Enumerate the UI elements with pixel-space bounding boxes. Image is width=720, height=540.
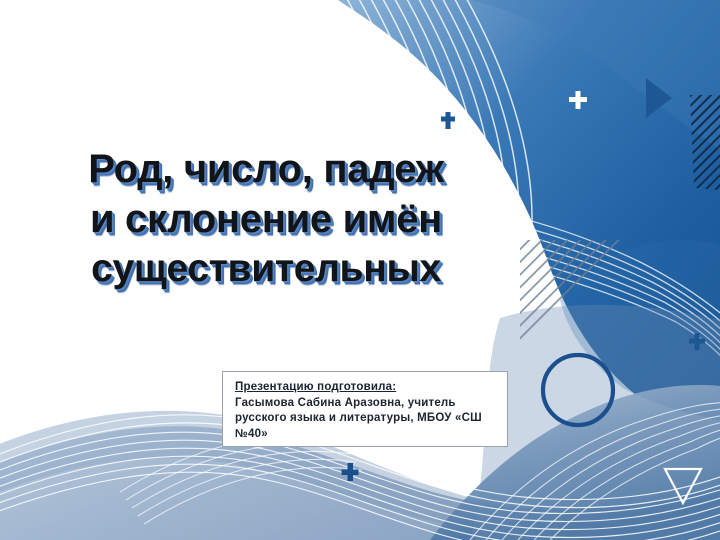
- credit-heading: Презентацию подготовила:: [235, 380, 497, 396]
- slide-title: Род, число, падеж и склонение имён сущес…: [26, 144, 506, 294]
- author-credit-box: Презентацию подготовила: Гасымова Сабина…: [222, 371, 508, 447]
- title-line-3: существительных: [26, 244, 506, 294]
- credit-body: Гасымова Сабина Аразовна, учитель русско…: [235, 396, 497, 443]
- title-line-2: и склонение имён: [26, 194, 506, 244]
- presentation-slide: Род, число, падеж и склонение имён сущес…: [0, 0, 720, 540]
- title-line-1: Род, число, падеж: [26, 144, 506, 194]
